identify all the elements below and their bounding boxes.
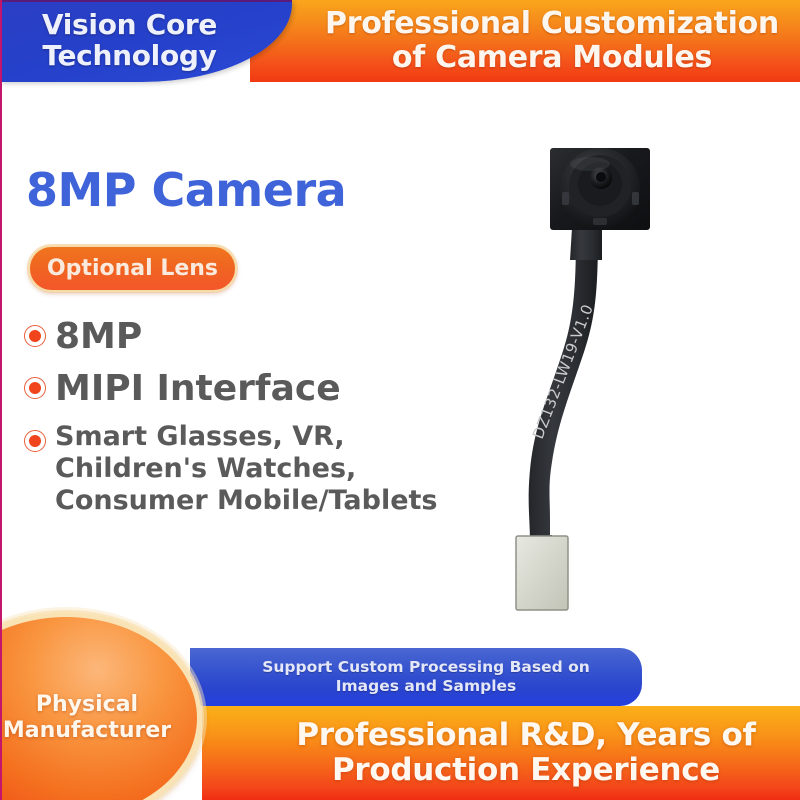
feature-list: 8MP MIPI Interface Smart Glasses, VR, Ch…: [24, 316, 494, 527]
bullet-dot-icon: [24, 377, 46, 399]
product-title: 8MP Camera: [26, 163, 346, 217]
feature-item: MIPI Interface: [24, 368, 494, 410]
experience-banner-line2: Production Experience: [332, 753, 720, 788]
feature-label: 8MP: [55, 316, 142, 358]
header-headline-line1: Professional Customization: [325, 7, 779, 41]
brand-name-line1: Vision Core: [42, 9, 217, 40]
bullet-dot-icon: [24, 430, 46, 452]
support-banner: Support Custom Processing Based on Image…: [190, 648, 642, 706]
feature-label: MIPI Interface: [55, 368, 341, 410]
feature-item: Smart Glasses, VR, Children's Watches, C…: [24, 421, 494, 517]
camera-module-photo: DZ132-LW19-V1.0: [490, 140, 700, 620]
optional-lens-badge: Optional Lens: [28, 245, 237, 292]
experience-banner: Professional R&D, Years of Production Ex…: [202, 706, 800, 800]
brand-name: Vision Core Technology: [2, 0, 257, 80]
physical-manufacturer-line2: Manufacturer: [0, 718, 171, 744]
bullet-dot-icon: [24, 325, 46, 347]
header-banner: Professional Customization of Camera Mod…: [2, 0, 800, 82]
flex-cable-marking: DZ132-LW19-V1.0: [529, 302, 597, 442]
optional-lens-badge-label: Optional Lens: [47, 256, 218, 281]
physical-manufacturer-badge: Physical Manufacturer: [0, 612, 202, 800]
feature-label: Smart Glasses, VR, Children's Watches, C…: [55, 421, 494, 517]
header-headline: Professional Customization of Camera Mod…: [302, 0, 800, 82]
brand-name-line2: Technology: [42, 40, 216, 71]
support-banner-label: Support Custom Processing Based on Image…: [250, 658, 602, 697]
feature-item: 8MP: [24, 316, 494, 358]
physical-manufacturer-line1: Physical: [0, 692, 138, 718]
product-poster: Professional Customization of Camera Mod…: [0, 0, 800, 800]
header-headline-line2: of Camera Modules: [392, 41, 712, 75]
experience-banner-line1: Professional R&D, Years of: [296, 718, 755, 753]
